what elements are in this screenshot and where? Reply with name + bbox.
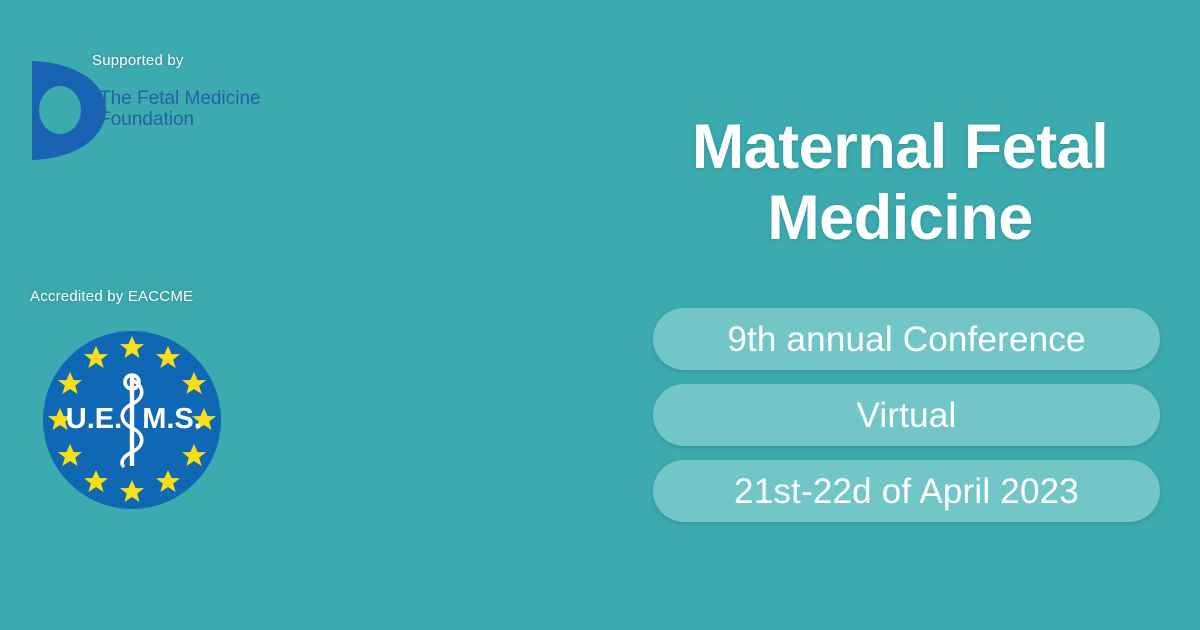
fetal-medicine-foundation-wordmark: The Fetal Medicine Foundation (99, 88, 261, 130)
detail-pill-dates: 21st-22d of April 2023 (653, 460, 1160, 522)
detail-pill-format: Virtual (653, 384, 1160, 446)
uems-logo-icon: U.E. M.S. (42, 330, 222, 510)
page-title-line-1: Maternal Fetal (640, 112, 1160, 183)
conference-details-list: 9th annual Conference Virtual 21st-22d o… (653, 308, 1160, 522)
fetal-medicine-foundation-logo-icon (26, 58, 108, 163)
page-title-line-2: Medicine (640, 183, 1160, 254)
uems-text-right: M.S. (142, 403, 202, 435)
accredited-by-eaccme-label: Accredited by EACCME (30, 288, 193, 305)
conference-banner: Supported by The Fetal Medicine Foundati… (0, 0, 1200, 630)
detail-pill-conference: 9th annual Conference (653, 308, 1160, 370)
fmf-wordmark-line-1: The Fetal Medicine (99, 88, 261, 109)
page-title: Maternal Fetal Medicine (640, 112, 1160, 254)
fmf-wordmark-line-2: Foundation (99, 109, 261, 130)
uems-text-left: U.E. (66, 403, 122, 435)
